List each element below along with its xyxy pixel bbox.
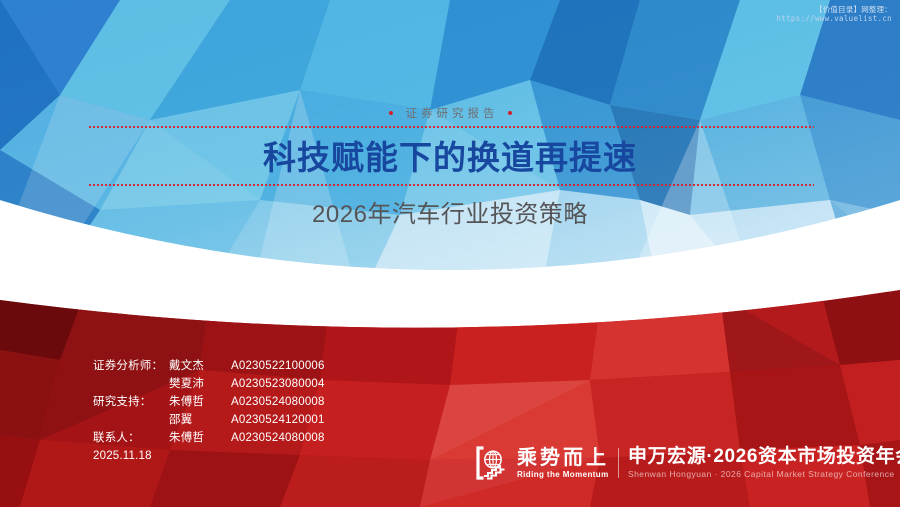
divider-top bbox=[88, 126, 814, 128]
credit-name: 朱傅哲 bbox=[169, 429, 231, 445]
credit-row: 邵翼 A0230524120001 bbox=[93, 411, 325, 429]
credit-role: 证券分析师： bbox=[93, 357, 169, 373]
eyebrow-label: 证券研究报告 bbox=[402, 105, 499, 121]
bullet-dot-icon bbox=[389, 111, 393, 115]
globe-sail-logo-icon bbox=[476, 446, 510, 480]
credit-name: 樊夏沛 bbox=[169, 375, 231, 391]
credit-row: 联系人： 朱傅哲 A0230524080008 bbox=[93, 429, 325, 447]
presentation-cover-slide: 【价值目录】网整理： https://www.valuelist.cn 证券研究… bbox=[0, 0, 900, 507]
credit-name: 戴文杰 bbox=[169, 357, 231, 373]
credit-role: 联系人： bbox=[93, 429, 169, 445]
credit-code: A0230523080004 bbox=[231, 378, 325, 390]
brand-slogan-en: Riding the Momentum bbox=[517, 469, 609, 480]
publish-date: 2025.11.18 bbox=[93, 447, 325, 465]
conference-title-block: 申万宏源·2026资本市场投资年会 Shenwan Hongyuan · 202… bbox=[628, 446, 900, 480]
page-subtitle: 2026年汽车行业投资策略 bbox=[0, 198, 900, 232]
brand-divider bbox=[618, 448, 619, 478]
credit-name: 朱傅哲 bbox=[169, 393, 231, 409]
credit-code: A0230522100006 bbox=[231, 360, 325, 372]
credit-row: 证券分析师： 戴文杰 A0230522100006 bbox=[93, 357, 325, 375]
brand-slogan-block: 乘势而上 Riding the Momentum bbox=[517, 447, 618, 480]
credit-name: 邵翼 bbox=[169, 411, 231, 427]
divider-bottom bbox=[88, 184, 814, 186]
report-type-eyebrow: 证券研究报告 bbox=[0, 102, 900, 121]
credit-row: 樊夏沛 A0230523080004 bbox=[93, 375, 325, 393]
brand-lockup: 乘势而上 Riding the Momentum 申万宏源·2026资本市场投资… bbox=[476, 446, 900, 480]
page-title: 科技赋能下的换道再提速 bbox=[0, 136, 900, 180]
conference-title-cn: 申万宏源·2026资本市场投资年会 bbox=[628, 446, 900, 468]
credit-role: 研究支持： bbox=[93, 393, 169, 409]
credit-row: 研究支持： 朱傅哲 A0230524080008 bbox=[93, 393, 325, 411]
credit-code: A0230524120001 bbox=[231, 414, 325, 426]
bullet-dot-icon bbox=[508, 111, 512, 115]
analyst-credits: 证券分析师： 戴文杰 A0230522100006 樊夏沛 A023052308… bbox=[93, 357, 325, 465]
credit-code: A0230524080008 bbox=[231, 396, 325, 408]
brand-slogan-cn: 乘势而上 bbox=[517, 447, 609, 469]
credit-code: A0230524080008 bbox=[231, 432, 325, 444]
conference-title-en: Shenwan Hongyuan · 2026 Capital Market S… bbox=[628, 468, 900, 480]
